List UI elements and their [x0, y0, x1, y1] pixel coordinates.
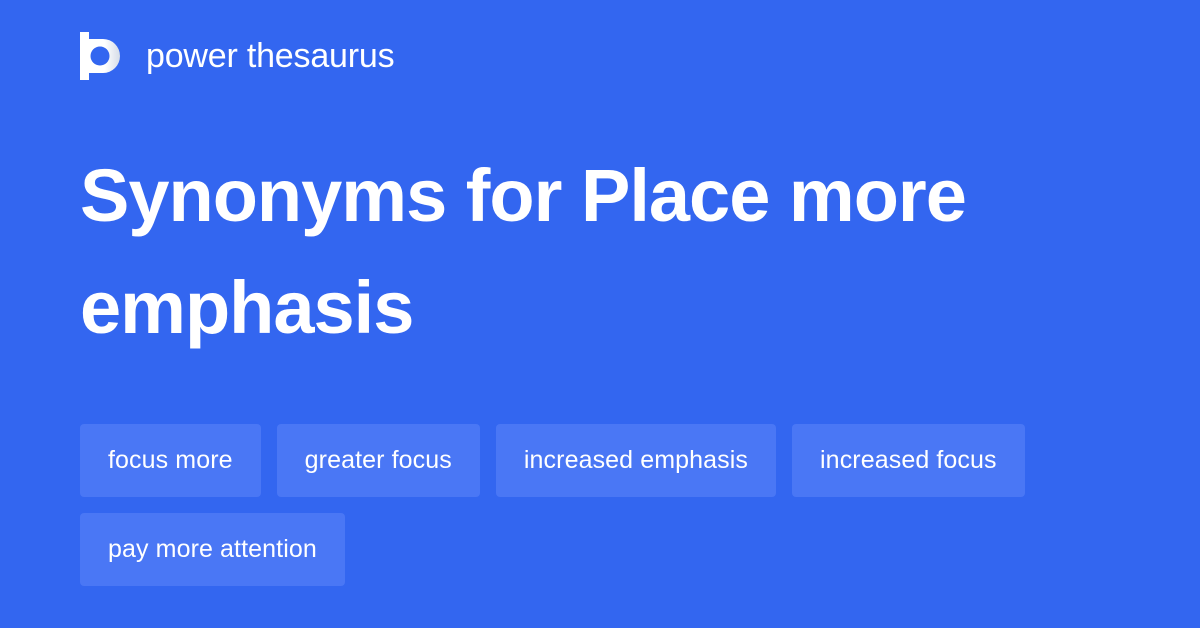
synonym-tag[interactable]: increased focus	[792, 424, 1025, 497]
synonym-tag-list: focus more greater focus increased empha…	[80, 424, 1140, 586]
share-card: power thesaurus Synonyms for Place more …	[0, 0, 1200, 628]
synonym-tag[interactable]: focus more	[80, 424, 261, 497]
brand-name: power thesaurus	[146, 39, 394, 73]
synonym-tag[interactable]: pay more attention	[80, 513, 345, 586]
synonym-tag[interactable]: increased emphasis	[496, 424, 776, 497]
power-thesaurus-b-logo-icon	[80, 32, 124, 80]
synonym-tag[interactable]: greater focus	[277, 424, 480, 497]
page-title: Synonyms for Place more emphasis	[80, 140, 1120, 365]
brand-lockup[interactable]: power thesaurus	[80, 28, 394, 84]
